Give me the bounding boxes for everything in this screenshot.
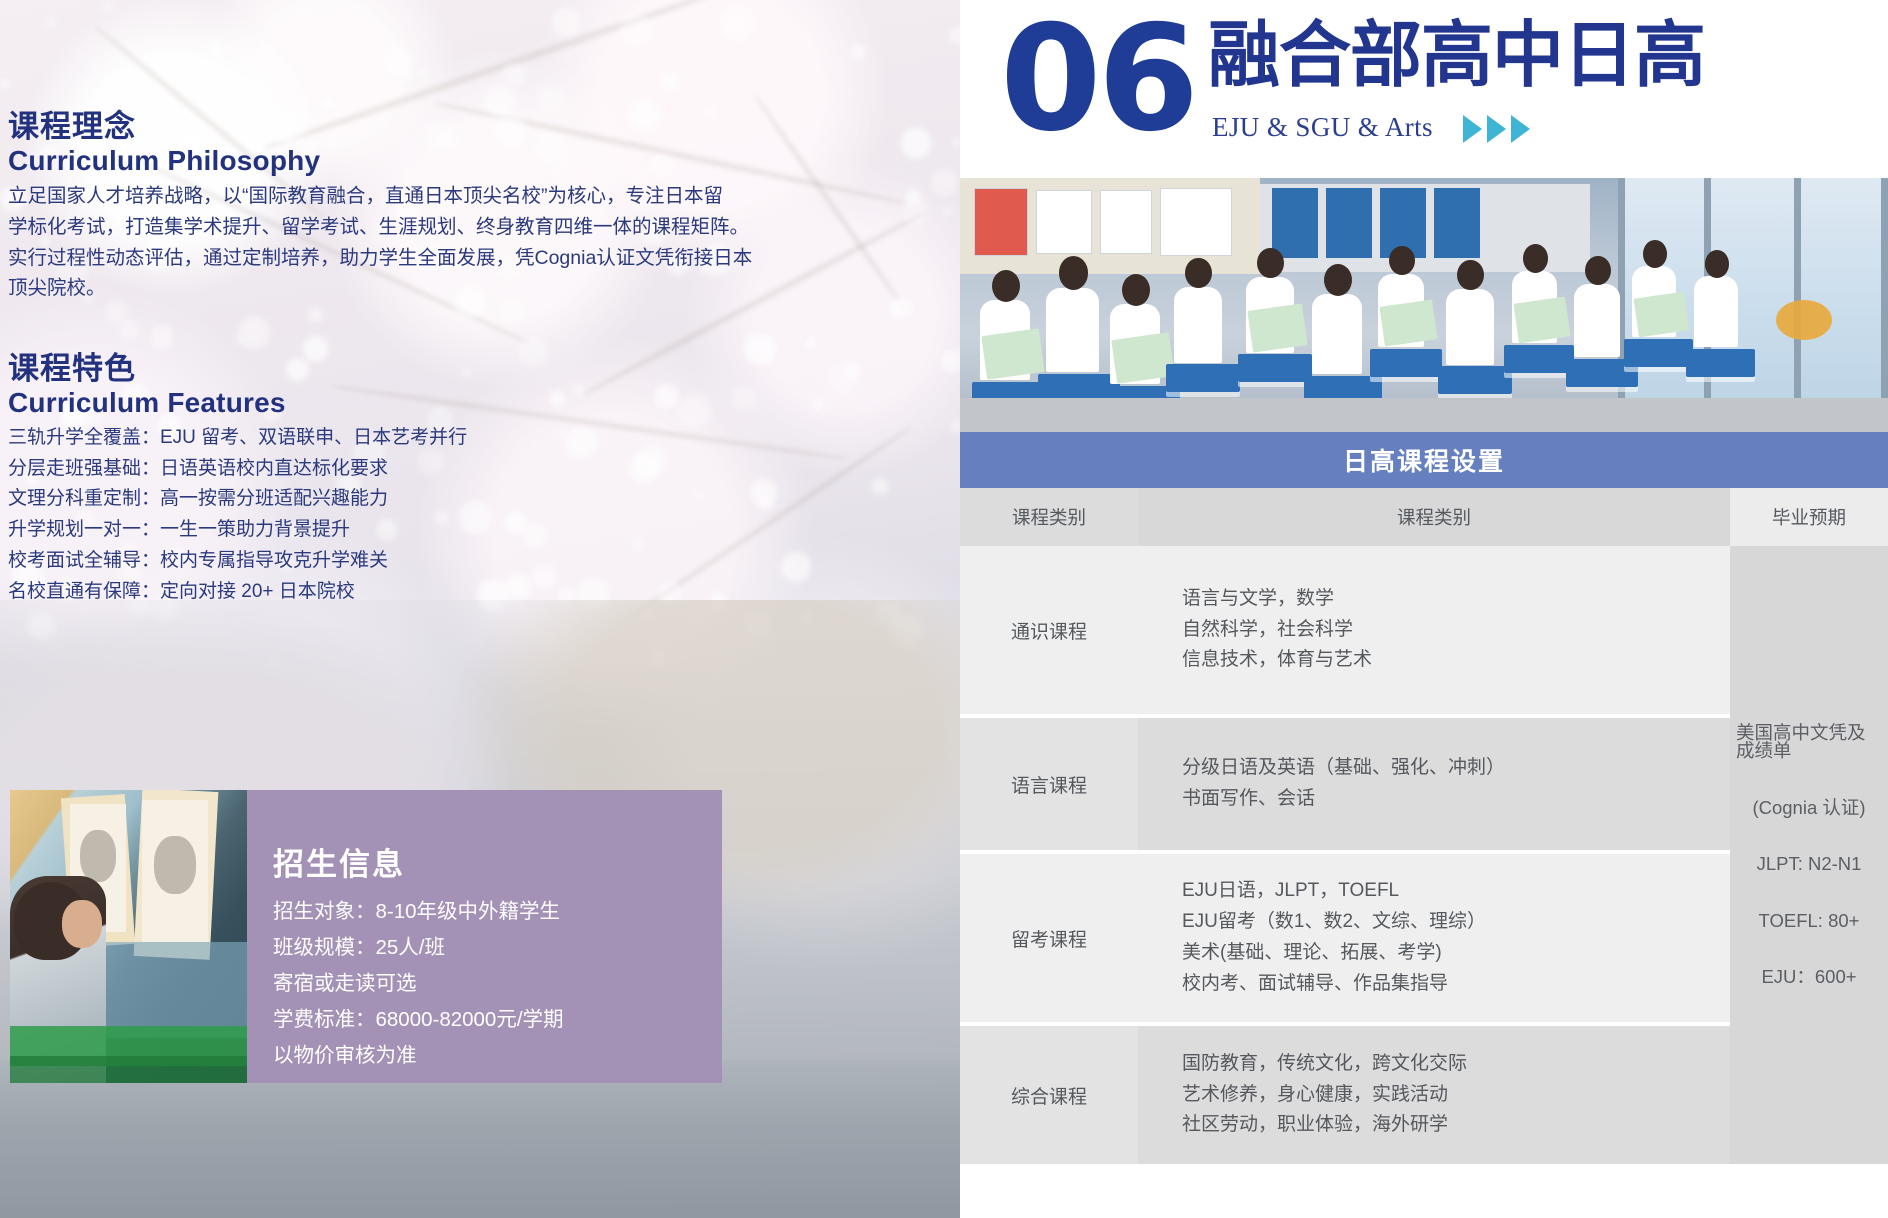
blossom <box>805 337 816 348</box>
content-lines: 国防教育，传统文化，跨文化交际 艺术修养，身心健康，实践活动 社区劳动，职业体验… <box>1152 1049 1467 1141</box>
blossom <box>419 69 428 78</box>
blossom <box>523 523 548 548</box>
row-category: 通识课程 <box>960 546 1138 714</box>
blossom <box>662 73 678 89</box>
feature-item: 名校直通有保障：定向对接 20+ 日本院校 <box>8 577 467 608</box>
column-header-category: 课程类别 <box>960 488 1138 546</box>
blossom <box>631 455 657 481</box>
blossom <box>238 317 270 349</box>
blossom <box>744 333 777 366</box>
road-background <box>0 1060 960 1218</box>
student-body <box>1574 284 1620 358</box>
blossom <box>151 326 173 348</box>
admission-line: 学费标准：68000-82000元/学期 <box>273 1002 564 1038</box>
row-content: 分级日语及英语（基础、强化、冲刺） 书面写作、会话 <box>1138 718 1730 850</box>
blossom <box>532 565 557 590</box>
triangle-right-icon <box>1487 115 1506 143</box>
row-content: EJU日语，JLPT，TOEFL EJU留考（数1、数2、文综、理综） 美术(基… <box>1138 854 1730 1022</box>
admission-line: 招生对象：8-10年级中外籍学生 <box>273 894 564 930</box>
poster <box>1160 188 1232 256</box>
blossom <box>949 27 960 44</box>
textbook <box>981 328 1045 380</box>
graduation-line: 美国高中文凭及成绩单 <box>1736 724 1882 761</box>
feature-item: 校考面试全辅导：校内专属指导攻克升学难关 <box>8 546 467 577</box>
blossom <box>654 384 679 409</box>
feature-item: 分层走班强基础：日语英语校内直达标化要求 <box>8 454 467 485</box>
content-line: 国防教育，传统文化，跨文化交际 <box>1182 1049 1467 1080</box>
content-line: 艺术修养，身心健康，实践活动 <box>1182 1080 1467 1111</box>
blossom <box>942 207 952 217</box>
right-panel: 06 融合部高中日高 EJU & SGU & Arts <box>960 0 1888 1218</box>
section-number: 06 <box>1000 6 1195 152</box>
arrow-icons <box>1463 115 1530 143</box>
content-line: 校内考、面试辅导、作品集指导 <box>1182 969 1486 1000</box>
blossom <box>552 8 580 36</box>
triangle-right-icon <box>1511 115 1530 143</box>
graduation-line: (Cognia 认证) <box>1752 799 1865 818</box>
table-header-row: 课程类别 课程类别 毕业预期 <box>960 488 1888 546</box>
blossom <box>732 386 756 410</box>
blossom <box>385 48 412 75</box>
student-body <box>1174 287 1222 363</box>
blossom <box>47 18 56 27</box>
philosophy-cn-title: 课程理念 <box>8 110 752 145</box>
blossom <box>852 45 865 58</box>
student-head <box>1523 244 1548 273</box>
blossom <box>846 362 861 377</box>
student-body <box>1694 276 1738 346</box>
content-line: 分级日语及英语（基础、强化、冲刺） <box>1182 753 1505 784</box>
poster <box>1036 190 1092 254</box>
row-content: 国防教育，传统文化，跨文化交际 艺术修养，身心健康，实践活动 社区劳动，职业体验… <box>1138 1026 1730 1164</box>
features-section: 课程特色 Curriculum Features 三轨升学全覆盖：EJU 留考、… <box>8 352 467 608</box>
blossom <box>693 491 703 501</box>
philosophy-line: 学标化考试，打造集学术提升、留学考试、生涯规划、终身教育四维一体的课程矩阵。 <box>8 212 752 243</box>
poster-page: 课程理念 Curriculum Philosophy 立足国家人才培养战略，以“… <box>0 0 1888 1218</box>
feature-item: 三轨升学全覆盖：EJU 留考、双语联申、日本艺考并行 <box>8 423 467 454</box>
student-desk <box>1686 349 1755 377</box>
classroom-floor <box>960 398 1888 432</box>
textbook <box>1379 300 1437 348</box>
student-head <box>1457 260 1484 290</box>
blossom <box>236 336 244 344</box>
graduation-line: JLPT: N2-N1 <box>1757 855 1862 874</box>
blossom <box>309 308 323 322</box>
category-label: 综合课程 <box>1011 1082 1087 1109</box>
student-head <box>1257 248 1284 278</box>
table-title: 日高课程设置 <box>960 432 1888 488</box>
blossom <box>550 391 565 406</box>
blossom <box>538 86 563 111</box>
poster <box>974 188 1028 256</box>
row-category: 留考课程 <box>960 854 1138 1022</box>
blossom <box>750 479 778 507</box>
student-body <box>1446 289 1494 365</box>
category-label: 通识课程 <box>1011 617 1087 644</box>
blossom <box>678 394 711 427</box>
blossom <box>621 13 653 45</box>
textbook <box>1513 296 1570 342</box>
content-lines: EJU日语，JLPT，TOEFL EJU留考（数1、数2、文综、理综） 美术(基… <box>1152 876 1486 999</box>
admission-text: 招生信息 招生对象：8-10年级中外籍学生 班级规模：25人/班 寄宿或走读可选… <box>247 790 564 1083</box>
graduation-line: TOEFL: 80+ <box>1759 912 1860 931</box>
blossom <box>941 350 960 372</box>
art-class-photo <box>10 790 247 1083</box>
student-desk <box>1238 354 1312 382</box>
category-label: 留考课程 <box>1011 925 1087 952</box>
blossom <box>632 538 644 550</box>
blossom <box>503 63 526 86</box>
content-lines: 语言与文学，数学 自然科学，社会科学 信息技术，体育与艺术 <box>1152 584 1372 676</box>
content-line: EJU留考（数1、数2、文综、理综） <box>1182 907 1486 938</box>
content-line: EJU日语，JLPT，TOEFL <box>1182 876 1486 907</box>
student-body <box>1046 288 1099 372</box>
blossom <box>324 99 333 108</box>
admission-line: 以物价审核为准 <box>273 1038 564 1074</box>
student-head <box>1389 246 1415 275</box>
cabinet-door <box>1434 188 1480 258</box>
textbook <box>1247 303 1307 352</box>
admission-line: 寄宿或走读可选 <box>273 966 564 1002</box>
philosophy-line: 实行过程性动态评估，通过定制培养，助力学生全面发展，凭Cognia认证文凭衔接日… <box>8 243 752 274</box>
student-head <box>1122 274 1150 306</box>
admission-card: 招生信息 招生对象：8-10年级中外籍学生 班级规模：25人/班 寄宿或走读可选… <box>10 790 722 1083</box>
admission-line: 班级规模：25人/班 <box>273 930 564 966</box>
student-body <box>1312 294 1362 374</box>
section-cn-title: 融合部高中日高 <box>1208 20 1705 92</box>
student-desk <box>1370 349 1442 377</box>
blossom <box>120 320 140 340</box>
features-en-title: Curriculum Features <box>8 387 467 419</box>
student-head <box>1643 240 1668 268</box>
feature-item: 文理分科重定制：高一按需分班适配兴趣能力 <box>8 484 467 515</box>
blossom <box>890 297 912 319</box>
blossom <box>872 478 888 494</box>
column-header-content: 课程类别 <box>1138 488 1730 546</box>
blossom <box>931 169 958 196</box>
blossom <box>952 138 960 148</box>
content-line: 书面写作、会话 <box>1182 784 1505 815</box>
student-head <box>1585 256 1611 285</box>
student-face <box>62 900 102 948</box>
philosophy-section: 课程理念 Curriculum Philosophy 立足国家人才培养战略，以“… <box>8 110 752 304</box>
student-head <box>1324 264 1352 296</box>
blossom <box>950 419 960 434</box>
left-panel: 课程理念 Curriculum Philosophy 立足国家人才培养战略，以“… <box>0 0 960 1218</box>
student-head <box>1185 258 1212 288</box>
content-lines: 分级日语及英语（基础、强化、冲刺） 书面写作、会话 <box>1152 753 1505 815</box>
student-head <box>992 270 1020 302</box>
student-desk <box>1438 366 1512 394</box>
window-frame <box>1881 178 1888 432</box>
graduation-line: EJU：600+ <box>1761 968 1856 987</box>
content-line: 自然科学，社会科学 <box>1182 615 1372 646</box>
feature-item: 升学规划一对一：一生一策助力背景提升 <box>8 515 467 546</box>
philosophy-line: 立足国家人才培养战略，以“国际教育融合，直通日本顶尖名校”为核心，专注日本留 <box>8 181 752 212</box>
branch-decoration <box>753 95 906 311</box>
blossom <box>102 2 113 13</box>
student-head <box>1705 250 1730 278</box>
content-line: 语言与文学，数学 <box>1182 584 1372 615</box>
row-category: 语言课程 <box>960 718 1138 850</box>
student-desk <box>1504 345 1574 373</box>
blossom <box>721 6 755 40</box>
admission-title: 招生信息 <box>273 848 564 882</box>
student-head <box>1059 256 1088 290</box>
blossom <box>572 384 584 396</box>
section-header: 06 融合部高中日高 EJU & SGU & Arts <box>960 0 1888 178</box>
blossom <box>901 128 932 159</box>
student-desk <box>1624 339 1693 367</box>
blossom <box>0 79 10 89</box>
blossom <box>505 574 530 599</box>
sketch <box>80 830 116 882</box>
student-desk <box>1166 364 1240 392</box>
classroom-wall <box>106 942 247 1038</box>
row-category: 综合课程 <box>960 1026 1138 1164</box>
blossom <box>211 45 223 57</box>
triangle-right-icon <box>1463 115 1482 143</box>
content-line: 美术(基础、理论、拓展、考学) <box>1182 938 1486 969</box>
blossom <box>812 399 823 410</box>
desk-shadow <box>10 1056 247 1083</box>
philosophy-en-title: Curriculum Philosophy <box>8 145 752 177</box>
cabinet-door <box>1326 188 1372 258</box>
features-cn-title: 课程特色 <box>8 352 467 387</box>
row-content: 语言与文学，数学 自然科学，社会科学 信息技术，体育与艺术 <box>1138 546 1730 714</box>
flower-vase <box>1776 300 1832 340</box>
blossom <box>781 552 811 582</box>
philosophy-line: 顶尖院校。 <box>8 273 752 304</box>
content-line: 社区劳动，职业体验，海外研学 <box>1182 1110 1467 1141</box>
sketch <box>154 836 196 894</box>
category-label: 语言课程 <box>1011 771 1087 798</box>
section-en-subtitle: EJU & SGU & Arts <box>1212 112 1433 143</box>
poster <box>1100 190 1152 254</box>
classroom-photo <box>960 178 1888 432</box>
cabinet-door <box>1272 188 1318 258</box>
graduation-column: 美国高中文凭及成绩单 (Cognia 认证) JLPT: N2-N1 TOEFL… <box>1730 546 1888 1164</box>
textbook <box>1633 291 1689 336</box>
content-line: 信息技术，体育与艺术 <box>1182 645 1372 676</box>
blossom <box>518 338 547 367</box>
column-header-graduation: 毕业预期 <box>1730 488 1888 546</box>
blossom <box>566 427 597 458</box>
